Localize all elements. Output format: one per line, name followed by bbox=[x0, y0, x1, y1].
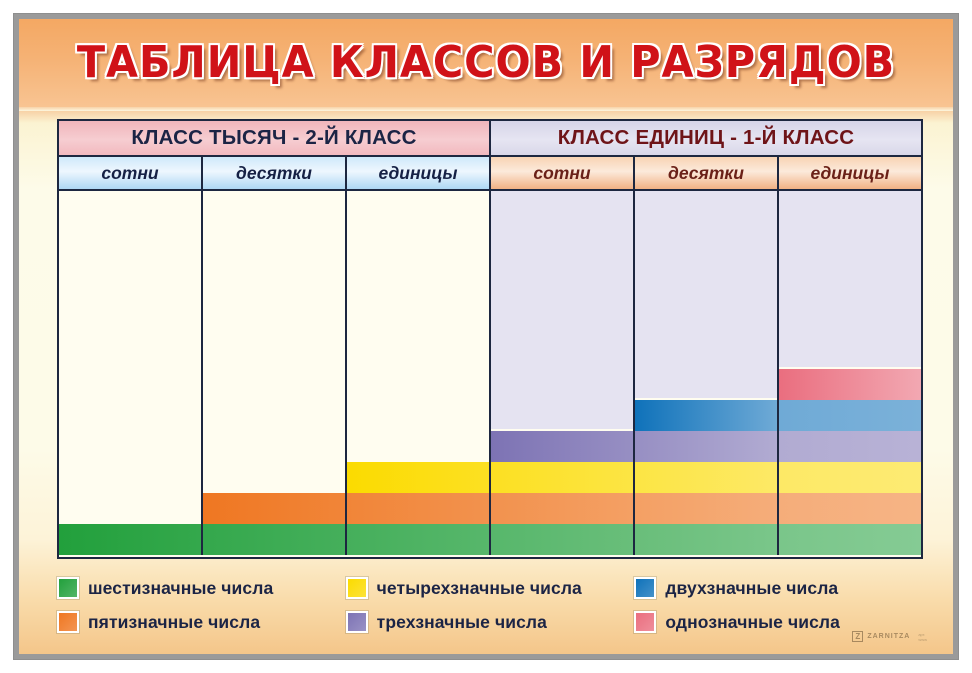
column-ones bbox=[779, 191, 921, 555]
legend-swatch-four-digit bbox=[346, 577, 368, 599]
column-ones-thousands bbox=[347, 191, 491, 555]
legend-swatch-one-digit bbox=[634, 611, 656, 633]
legend-item: шестизначные числа bbox=[57, 571, 346, 605]
class-header-units: КЛАСС ЕДИНИЦ - 1-Й КЛАСС bbox=[491, 121, 921, 157]
band-пятизначные bbox=[635, 491, 777, 524]
legend-swatch-two-digit bbox=[634, 577, 656, 599]
poster: ТАБЛИЦА КЛАССОВ И РАЗРЯДОВ КЛАСС ТЫСЯЧ -… bbox=[19, 19, 953, 654]
band-трехзначные bbox=[635, 429, 777, 462]
watermark-fine-print: арт. www bbox=[918, 632, 927, 642]
band-четырехзначные bbox=[491, 460, 633, 493]
legend-label: двухзначные числа bbox=[665, 578, 838, 599]
header-divider bbox=[19, 107, 953, 111]
legend-label: пятизначные числа bbox=[88, 612, 260, 633]
legend-item: пятизначные числа bbox=[57, 605, 346, 639]
rank-header-hundreds: сотни bbox=[491, 157, 635, 191]
page-title: ТАБЛИЦА КЛАССОВ И РАЗРЯДОВ bbox=[47, 37, 925, 88]
watermark-brand: ZARNITZA bbox=[867, 633, 910, 640]
rank-header-ones-thousands: единицы bbox=[347, 157, 491, 191]
legend-label: однозначные числа bbox=[665, 612, 840, 633]
column-tens-thousands bbox=[203, 191, 347, 555]
legend-item: трехзначные числа bbox=[346, 605, 635, 639]
rank-header-ones: единицы bbox=[779, 157, 921, 191]
band-трехзначные bbox=[491, 429, 633, 462]
band-однозначные bbox=[779, 367, 921, 400]
legend-label: шестизначные числа bbox=[88, 578, 273, 599]
legend-swatch-three-digit bbox=[346, 611, 368, 633]
legend-swatch-six-digit bbox=[57, 577, 79, 599]
band-пятизначные bbox=[203, 491, 345, 524]
band-шестизначные bbox=[59, 524, 201, 555]
band-четырехзначные bbox=[347, 460, 489, 493]
legend-label: трехзначные числа bbox=[377, 612, 547, 633]
band-пятизначные bbox=[779, 491, 921, 524]
legend-item: двухзначные числа bbox=[634, 571, 923, 605]
legend-label: четырехзначные числа bbox=[377, 578, 582, 599]
band-шестизначные bbox=[779, 524, 921, 555]
band-двухзначные bbox=[779, 398, 921, 431]
band-пятизначные bbox=[347, 491, 489, 524]
band-шестизначные bbox=[203, 524, 345, 555]
table-body-grid bbox=[59, 191, 921, 555]
place-value-table: КЛАСС ТЫСЯЧ - 2-Й КЛАСС КЛАСС ЕДИНИЦ - 1… bbox=[57, 119, 923, 559]
band-пятизначные bbox=[491, 491, 633, 524]
band-шестизначные bbox=[635, 524, 777, 555]
poster-frame: ТАБЛИЦА КЛАССОВ И РАЗРЯДОВ КЛАСС ТЫСЯЧ -… bbox=[14, 14, 958, 659]
legend-item: четырехзначные числа bbox=[346, 571, 635, 605]
column-tens bbox=[635, 191, 779, 555]
band-шестизначные bbox=[347, 524, 489, 555]
band-двухзначные bbox=[635, 398, 777, 431]
column-hundreds-thousands bbox=[59, 191, 203, 555]
class-header-row: КЛАСС ТЫСЯЧ - 2-Й КЛАСС КЛАСС ЕДИНИЦ - 1… bbox=[59, 121, 921, 157]
band-четырехзначные bbox=[779, 460, 921, 493]
rank-header-hundreds-thousands: сотни bbox=[59, 157, 203, 191]
rank-header-tens: десятки bbox=[635, 157, 779, 191]
class-header-thousands: КЛАСС ТЫСЯЧ - 2-Й КЛАСС bbox=[59, 121, 491, 157]
watermark: Z ZARNITZA арт. www bbox=[852, 631, 927, 642]
column-hundreds bbox=[491, 191, 635, 555]
rank-header-tens-thousands: десятки bbox=[203, 157, 347, 191]
band-четырехзначные bbox=[635, 460, 777, 493]
watermark-logo-icon: Z bbox=[852, 631, 863, 642]
legend: шестизначные числа четырехзначные числа … bbox=[57, 571, 923, 639]
legend-swatch-five-digit bbox=[57, 611, 79, 633]
band-трехзначные bbox=[779, 429, 921, 462]
rank-header-row: сотни десятки единицы сотни десятки един… bbox=[59, 157, 921, 191]
band-шестизначные bbox=[491, 524, 633, 555]
